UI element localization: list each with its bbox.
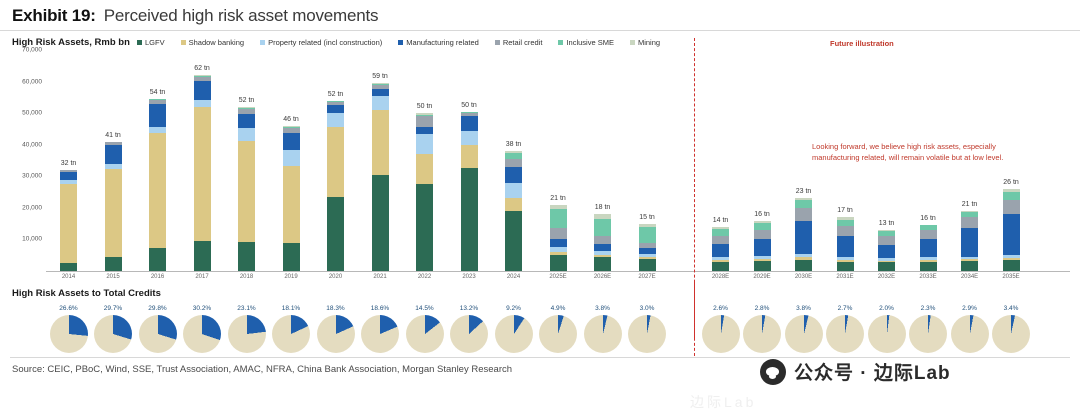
pie-value-label: 29.7% bbox=[104, 305, 122, 312]
wechat-logo-icon bbox=[760, 359, 786, 385]
bar-segment-shadow-banking bbox=[238, 141, 255, 242]
pie-value-label: 3.0% bbox=[640, 305, 655, 312]
legend-label: Inclusive SME bbox=[566, 38, 614, 47]
x-axis-tick-label: 2033E bbox=[919, 274, 936, 280]
bar-segment-lgfv bbox=[961, 261, 978, 271]
bar-segment-lgfv bbox=[283, 243, 300, 271]
bar-segment-property-related-incl-construction bbox=[372, 96, 389, 110]
bar-segment-inclusive-sme bbox=[594, 219, 611, 236]
pie-value-label: 18.3% bbox=[326, 305, 344, 312]
bar-value-label: 32 tn bbox=[61, 160, 77, 167]
bar-segment-shadow-banking bbox=[372, 110, 389, 175]
legend-item-retail-credit: Retail credit bbox=[495, 38, 543, 47]
bar-segment-retail-credit bbox=[795, 208, 812, 221]
pie-value-label: 14.5% bbox=[415, 305, 433, 312]
pie-2031E[interactable]: 2.7% bbox=[825, 306, 865, 356]
bar-segment-inclusive-sme bbox=[550, 209, 567, 228]
legend-label: Mining bbox=[638, 38, 660, 47]
bar-value-label: 59 tn bbox=[372, 73, 388, 80]
pie-value-label: 3.8% bbox=[595, 305, 610, 312]
pie-2032E[interactable]: 2.0% bbox=[867, 306, 907, 356]
bar-2029E[interactable]: 16 tn bbox=[754, 221, 771, 271]
legend-swatch-icon bbox=[137, 40, 142, 45]
pie-2034E[interactable]: 2.9% bbox=[950, 306, 990, 356]
x-axis-tick-label: 2017 bbox=[195, 274, 208, 280]
pie-2017[interactable]: 30.2% bbox=[182, 306, 222, 356]
bar-2032E[interactable]: 13 tn bbox=[878, 230, 895, 271]
pie-2026E[interactable]: 3.8% bbox=[583, 306, 623, 356]
bar-segment-shadow-banking bbox=[327, 127, 344, 196]
watermark-ghost-text: 边际Lab bbox=[690, 392, 756, 412]
bar-segment-lgfv bbox=[238, 242, 255, 271]
pie-2016[interactable]: 29.8% bbox=[138, 306, 178, 356]
bar-segment-inclusive-sme bbox=[795, 200, 812, 208]
bar-segment-manufacturing-related bbox=[550, 239, 567, 247]
bar-segment-retail-credit bbox=[754, 230, 771, 239]
bar-segment-inclusive-sme bbox=[1003, 192, 1020, 200]
bar-value-label: 16 tn bbox=[920, 215, 936, 222]
y-axis-tick-label: 10,000 bbox=[22, 236, 42, 243]
chart-meta-row: High Risk Assets, Rmb bn LGFVShadow bank… bbox=[12, 35, 1068, 49]
bar-segment-shadow-banking bbox=[194, 107, 211, 241]
bar-2015[interactable]: 41 tn bbox=[105, 142, 122, 271]
bar-segment-property-related-incl-construction bbox=[461, 131, 478, 145]
source-note: Source: CEIC, PBoC, Wind, SSE, Trust Ass… bbox=[12, 364, 512, 375]
x-axis-tick-label: 2025E bbox=[549, 274, 566, 280]
legend-item-property-related-incl-construction: Property related (incl construction) bbox=[260, 38, 382, 47]
bar-segment-manufacturing-related bbox=[283, 133, 300, 150]
exhibit-number: Exhibit 19: bbox=[12, 6, 96, 26]
bar-segment-manufacturing-related bbox=[594, 244, 611, 251]
pie-value-label: 23.1% bbox=[237, 305, 255, 312]
bar-2023[interactable]: 50 tn bbox=[461, 112, 478, 271]
bar-2030E[interactable]: 23 tn bbox=[795, 198, 812, 271]
bar-segment-lgfv bbox=[754, 261, 771, 271]
pie-value-label: 3.8% bbox=[796, 305, 811, 312]
legend-swatch-icon bbox=[558, 40, 563, 45]
pie-2019[interactable]: 18.1% bbox=[271, 306, 311, 356]
bar-segment-manufacturing-related bbox=[712, 244, 729, 257]
y-axis-tick-label: 40,000 bbox=[22, 141, 42, 148]
pie-chart-graphic bbox=[50, 315, 88, 353]
legend-item-inclusive-sme: Inclusive SME bbox=[558, 38, 614, 47]
bar-2020[interactable]: 52 tn bbox=[327, 101, 344, 271]
legend-label: Property related (incl construction) bbox=[268, 38, 382, 47]
x-axis-tick-label: 2031E bbox=[836, 274, 853, 280]
bar-segment-manufacturing-related bbox=[837, 236, 854, 257]
bar-segment-lgfv bbox=[550, 255, 567, 271]
pie-forecast-divider-line bbox=[694, 282, 695, 356]
bar-segment-lgfv bbox=[594, 257, 611, 271]
x-axis-tick-label: 2014 bbox=[62, 274, 75, 280]
pie-2027E[interactable]: 3.0% bbox=[627, 306, 667, 356]
x-axis-tick-label: 2023 bbox=[462, 274, 475, 280]
pie-chart-graphic bbox=[317, 315, 355, 353]
legend-swatch-icon bbox=[630, 40, 635, 45]
bar-value-label: 46 tn bbox=[283, 116, 299, 123]
pie-value-label: 9.2% bbox=[506, 305, 521, 312]
pie-value-label: 2.8% bbox=[755, 305, 770, 312]
pie-value-label: 2.7% bbox=[838, 305, 853, 312]
x-axis-tick-label: 2015 bbox=[106, 274, 119, 280]
pie-chart-graphic bbox=[785, 315, 823, 353]
bar-segment-property-related-incl-construction bbox=[194, 100, 211, 107]
pie-2024[interactable]: 9.2% bbox=[494, 306, 534, 356]
bar-segment-inclusive-sme bbox=[639, 227, 656, 243]
pie-2029E[interactable]: 2.8% bbox=[742, 306, 782, 356]
pie-chart-graphic bbox=[94, 315, 132, 353]
bar-segment-manufacturing-related bbox=[505, 167, 522, 183]
bar-segment-property-related-incl-construction bbox=[327, 113, 344, 127]
bar-value-label: 21 tn bbox=[962, 201, 978, 208]
bar-segment-manufacturing-related bbox=[105, 145, 122, 165]
bar-segment-manufacturing-related bbox=[795, 221, 812, 254]
pie-2033E[interactable]: 2.3% bbox=[908, 306, 948, 356]
legend-label: Shadow banking bbox=[189, 38, 244, 47]
pie-value-label: 18.6% bbox=[371, 305, 389, 312]
bar-value-label: 26 tn bbox=[1003, 179, 1019, 186]
x-axis-tick-label: 2034E bbox=[961, 274, 978, 280]
x-axis-tick-label: 2019 bbox=[284, 274, 297, 280]
bar-segment-lgfv bbox=[461, 168, 478, 271]
bar-segment-retail-credit bbox=[961, 217, 978, 228]
bar-segment-retail-credit bbox=[594, 236, 611, 244]
bar-segment-shadow-banking bbox=[149, 133, 166, 248]
x-axis-tick-label: 2026E bbox=[594, 274, 611, 280]
bar-value-label: 52 tn bbox=[328, 91, 344, 98]
pie-value-label: 13.2% bbox=[460, 305, 478, 312]
pie-2023[interactable]: 13.2% bbox=[449, 306, 489, 356]
y-axis: 10,00020,00030,00040,00050,00060,00070,0… bbox=[0, 50, 46, 272]
bar-segment-lgfv bbox=[149, 248, 166, 271]
pie-2021[interactable]: 18.6% bbox=[360, 306, 400, 356]
bar-value-label: 14 tn bbox=[713, 217, 729, 224]
bar-value-label: 17 tn bbox=[837, 207, 853, 214]
y-axis-tick-label: 70,000 bbox=[22, 47, 42, 54]
legend-label: Manufacturing related bbox=[406, 38, 479, 47]
bar-value-label: 62 tn bbox=[194, 65, 210, 72]
bar-value-label: 50 tn bbox=[417, 103, 433, 110]
pie-chart-graphic bbox=[361, 315, 399, 353]
future-illustration-label: Future illustration bbox=[830, 39, 894, 48]
x-axis-tick-label: 2035E bbox=[1002, 274, 1019, 280]
pie-chart-graphic bbox=[272, 315, 310, 353]
legend-swatch-icon bbox=[260, 40, 265, 45]
pie-value-label: 2.3% bbox=[921, 305, 936, 312]
legend-item-mining: Mining bbox=[630, 38, 660, 47]
pie-2035E[interactable]: 3.4% bbox=[991, 306, 1031, 356]
bar-value-label: 15 tn bbox=[639, 214, 655, 221]
bar-segment-lgfv bbox=[194, 241, 211, 271]
pie-chart-graphic bbox=[951, 315, 989, 353]
bar-segment-property-related-incl-construction bbox=[505, 183, 522, 199]
bar-segment-shadow-banking bbox=[60, 184, 77, 263]
legend-label: LGFV bbox=[145, 38, 165, 47]
x-axis-tick-label: 2029E bbox=[753, 274, 770, 280]
legend-item-manufacturing-related: Manufacturing related bbox=[398, 38, 479, 47]
bar-segment-retail-credit bbox=[416, 116, 433, 127]
watermark: 公众号 · 边际Lab bbox=[760, 358, 951, 385]
page-title: Perceived high risk asset movements bbox=[104, 6, 379, 26]
bar-segment-lgfv bbox=[639, 259, 656, 271]
pie-chart-graphic bbox=[539, 315, 577, 353]
bar-2035E[interactable]: 26 tn bbox=[1003, 189, 1020, 271]
bar-segment-lgfv bbox=[105, 257, 122, 271]
x-axis-tick-label: 2028E bbox=[712, 274, 729, 280]
x-axis-tick-label: 2021 bbox=[373, 274, 386, 280]
pie-value-label: 29.8% bbox=[148, 305, 166, 312]
x-axis-tick-label: 2020 bbox=[329, 274, 342, 280]
bar-segment-shadow-banking bbox=[416, 154, 433, 184]
bar-segment-lgfv bbox=[920, 262, 937, 271]
bar-value-label: 21 tn bbox=[550, 195, 566, 202]
pie-value-label: 18.1% bbox=[282, 305, 300, 312]
bar-segment-lgfv bbox=[712, 262, 729, 271]
bar-value-label: 23 tn bbox=[796, 188, 812, 195]
legend-item-shadow-banking: Shadow banking bbox=[181, 38, 244, 47]
bar-segment-retail-credit bbox=[878, 236, 895, 245]
bar-segment-property-related-incl-construction bbox=[283, 150, 300, 166]
pie-value-label: 2.6% bbox=[713, 305, 728, 312]
bar-segment-lgfv bbox=[837, 262, 854, 271]
pie-2020[interactable]: 18.3% bbox=[316, 306, 356, 356]
pie-chart-graphic bbox=[743, 315, 781, 353]
bar-segment-retail-credit bbox=[505, 159, 522, 167]
legend-label: Retail credit bbox=[503, 38, 543, 47]
bar-2022[interactable]: 50 tn bbox=[416, 113, 433, 271]
bar-2028E[interactable]: 14 tn bbox=[712, 227, 729, 271]
y-axis-tick-label: 60,000 bbox=[22, 78, 42, 85]
watermark-text: 公众号 · 边际Lab bbox=[794, 358, 951, 385]
x-axis-tick-label: 2032E bbox=[878, 274, 895, 280]
bar-2019[interactable]: 46 tn bbox=[283, 126, 300, 271]
bar-2031E[interactable]: 17 tn bbox=[837, 217, 854, 271]
bar-2027E[interactable]: 15 tn bbox=[639, 224, 656, 271]
bar-2018[interactable]: 52 tn bbox=[238, 107, 255, 271]
pie-chart-graphic bbox=[139, 315, 177, 353]
bar-value-label: 50 tn bbox=[461, 102, 477, 109]
pie-2015[interactable]: 29.7% bbox=[93, 306, 133, 356]
pie-chart-graphic bbox=[909, 315, 947, 353]
pie-value-label: 2.0% bbox=[879, 305, 894, 312]
pie-chart-graphic bbox=[228, 315, 266, 353]
bar-segment-lgfv bbox=[416, 184, 433, 271]
bar-2014[interactable]: 32 tn bbox=[60, 170, 77, 271]
bar-2034E[interactable]: 21 tn bbox=[961, 211, 978, 271]
pie-chart-graphic bbox=[584, 315, 622, 353]
header-divider bbox=[0, 30, 1080, 31]
bar-value-label: 13 tn bbox=[879, 220, 895, 227]
y-axis-tick-label: 20,000 bbox=[22, 204, 42, 211]
bar-segment-property-related-incl-construction bbox=[238, 128, 255, 141]
bar-segment-shadow-banking bbox=[283, 166, 300, 243]
bar-segment-manufacturing-related bbox=[327, 105, 344, 113]
bar-segment-retail-credit bbox=[920, 230, 937, 239]
bar-segment-manufacturing-related bbox=[238, 114, 255, 128]
pie-value-label: 3.4% bbox=[1004, 305, 1019, 312]
bar-segment-manufacturing-related bbox=[149, 104, 166, 128]
bar-segment-lgfv bbox=[505, 211, 522, 271]
bar-value-label: 52 tn bbox=[239, 97, 255, 104]
bar-segment-lgfv bbox=[372, 175, 389, 271]
pie-chart-graphic bbox=[406, 315, 444, 353]
bar-segment-manufacturing-related bbox=[920, 239, 937, 256]
bar-segment-lgfv bbox=[795, 260, 812, 271]
pie-2022[interactable]: 14.5% bbox=[405, 306, 445, 356]
pie-value-label: 26.6% bbox=[59, 305, 77, 312]
x-axis-tick-label: 2027E bbox=[638, 274, 655, 280]
bar-segment-manufacturing-related bbox=[461, 116, 478, 130]
bar-2017[interactable]: 62 tn bbox=[194, 75, 211, 271]
bar-segment-retail-credit bbox=[550, 228, 567, 239]
x-axis-tick-label: 2018 bbox=[240, 274, 253, 280]
x-axis-tick-label: 2030E bbox=[795, 274, 812, 280]
pie-chart-graphic bbox=[183, 315, 221, 353]
bar-value-label: 38 tn bbox=[506, 141, 522, 148]
bar-segment-lgfv bbox=[327, 197, 344, 271]
pie-section: High Risk Assets to Total Credits 26.6%2… bbox=[0, 288, 1080, 356]
bar-segment-retail-credit bbox=[1003, 200, 1020, 214]
exhibit-header: Exhibit 19: Perceived high risk asset mo… bbox=[0, 0, 1080, 30]
pie-2014[interactable]: 26.6% bbox=[49, 306, 89, 356]
bar-segment-manufacturing-related bbox=[1003, 214, 1020, 255]
bar-segment-property-related-incl-construction bbox=[416, 134, 433, 155]
pie-2018[interactable]: 23.1% bbox=[227, 306, 267, 356]
bar-segment-retail-credit bbox=[712, 236, 729, 244]
bar-segment-manufacturing-related bbox=[754, 239, 771, 256]
legend-swatch-icon bbox=[495, 40, 500, 45]
pie-chart-graphic bbox=[450, 315, 488, 353]
chart-legend: LGFVShadow bankingProperty related (incl… bbox=[137, 38, 676, 47]
y-axis-tick-label: 50,000 bbox=[22, 110, 42, 117]
pie-2025E[interactable]: 4.9% bbox=[538, 306, 578, 356]
pie-chart-graphic bbox=[868, 315, 906, 353]
bar-segment-manufacturing-related bbox=[194, 81, 211, 100]
bar-2025E[interactable]: 21 tn bbox=[550, 205, 567, 271]
bar-segment-lgfv bbox=[1003, 260, 1020, 271]
x-axis-tick-label: 2024 bbox=[507, 274, 520, 280]
bar-segment-inclusive-sme bbox=[754, 223, 771, 230]
pie-value-label: 30.2% bbox=[193, 305, 211, 312]
pie-2030E[interactable]: 3.8% bbox=[784, 306, 824, 356]
x-axis-tick-label: 2016 bbox=[151, 274, 164, 280]
bar-segment-manufacturing-related bbox=[961, 228, 978, 256]
legend-swatch-icon bbox=[398, 40, 403, 45]
bar-value-label: 18 tn bbox=[595, 204, 611, 211]
bar-value-label: 54 tn bbox=[150, 89, 166, 96]
bar-segment-lgfv bbox=[878, 262, 895, 271]
bar-value-label: 16 tn bbox=[754, 211, 770, 218]
pie-chart-graphic bbox=[826, 315, 864, 353]
pie-2028E[interactable]: 2.6% bbox=[701, 306, 741, 356]
forecast-annotation-text: Looking forward, we believe high risk as… bbox=[812, 142, 1027, 164]
bar-segment-shadow-banking bbox=[461, 145, 478, 169]
bar-2016[interactable]: 54 tn bbox=[149, 99, 166, 271]
legend-swatch-icon bbox=[181, 40, 186, 45]
y-axis-tick-label: 30,000 bbox=[22, 173, 42, 180]
legend-item-lgfv: LGFV bbox=[137, 38, 165, 47]
bar-2026E[interactable]: 18 tn bbox=[594, 214, 611, 271]
pie-chart-graphic bbox=[992, 315, 1030, 353]
bar-2033E[interactable]: 16 tn bbox=[920, 225, 937, 271]
bar-2024[interactable]: 38 tn bbox=[505, 151, 522, 271]
pie-value-label: 4.9% bbox=[551, 305, 566, 312]
pie-value-label: 2.9% bbox=[962, 305, 977, 312]
pie-row: 26.6%29.7%29.8%30.2%23.1%18.1%18.3%18.6%… bbox=[46, 298, 1070, 356]
bar-2021[interactable]: 59 tn bbox=[372, 83, 389, 271]
bar-segment-manufacturing-related bbox=[878, 245, 895, 258]
bar-segment-shadow-banking bbox=[505, 198, 522, 211]
bar-segment-lgfv bbox=[60, 263, 77, 271]
bar-value-label: 41 tn bbox=[105, 132, 121, 139]
bar-segment-shadow-banking bbox=[105, 169, 122, 257]
bar-segment-manufacturing-related bbox=[60, 172, 77, 181]
x-axis-tick-label: 2022 bbox=[418, 274, 431, 280]
bar-segment-retail-credit bbox=[837, 226, 854, 236]
pie-chart-graphic bbox=[495, 315, 533, 353]
pie-chart-graphic bbox=[628, 315, 666, 353]
pie-chart-graphic bbox=[702, 315, 740, 353]
